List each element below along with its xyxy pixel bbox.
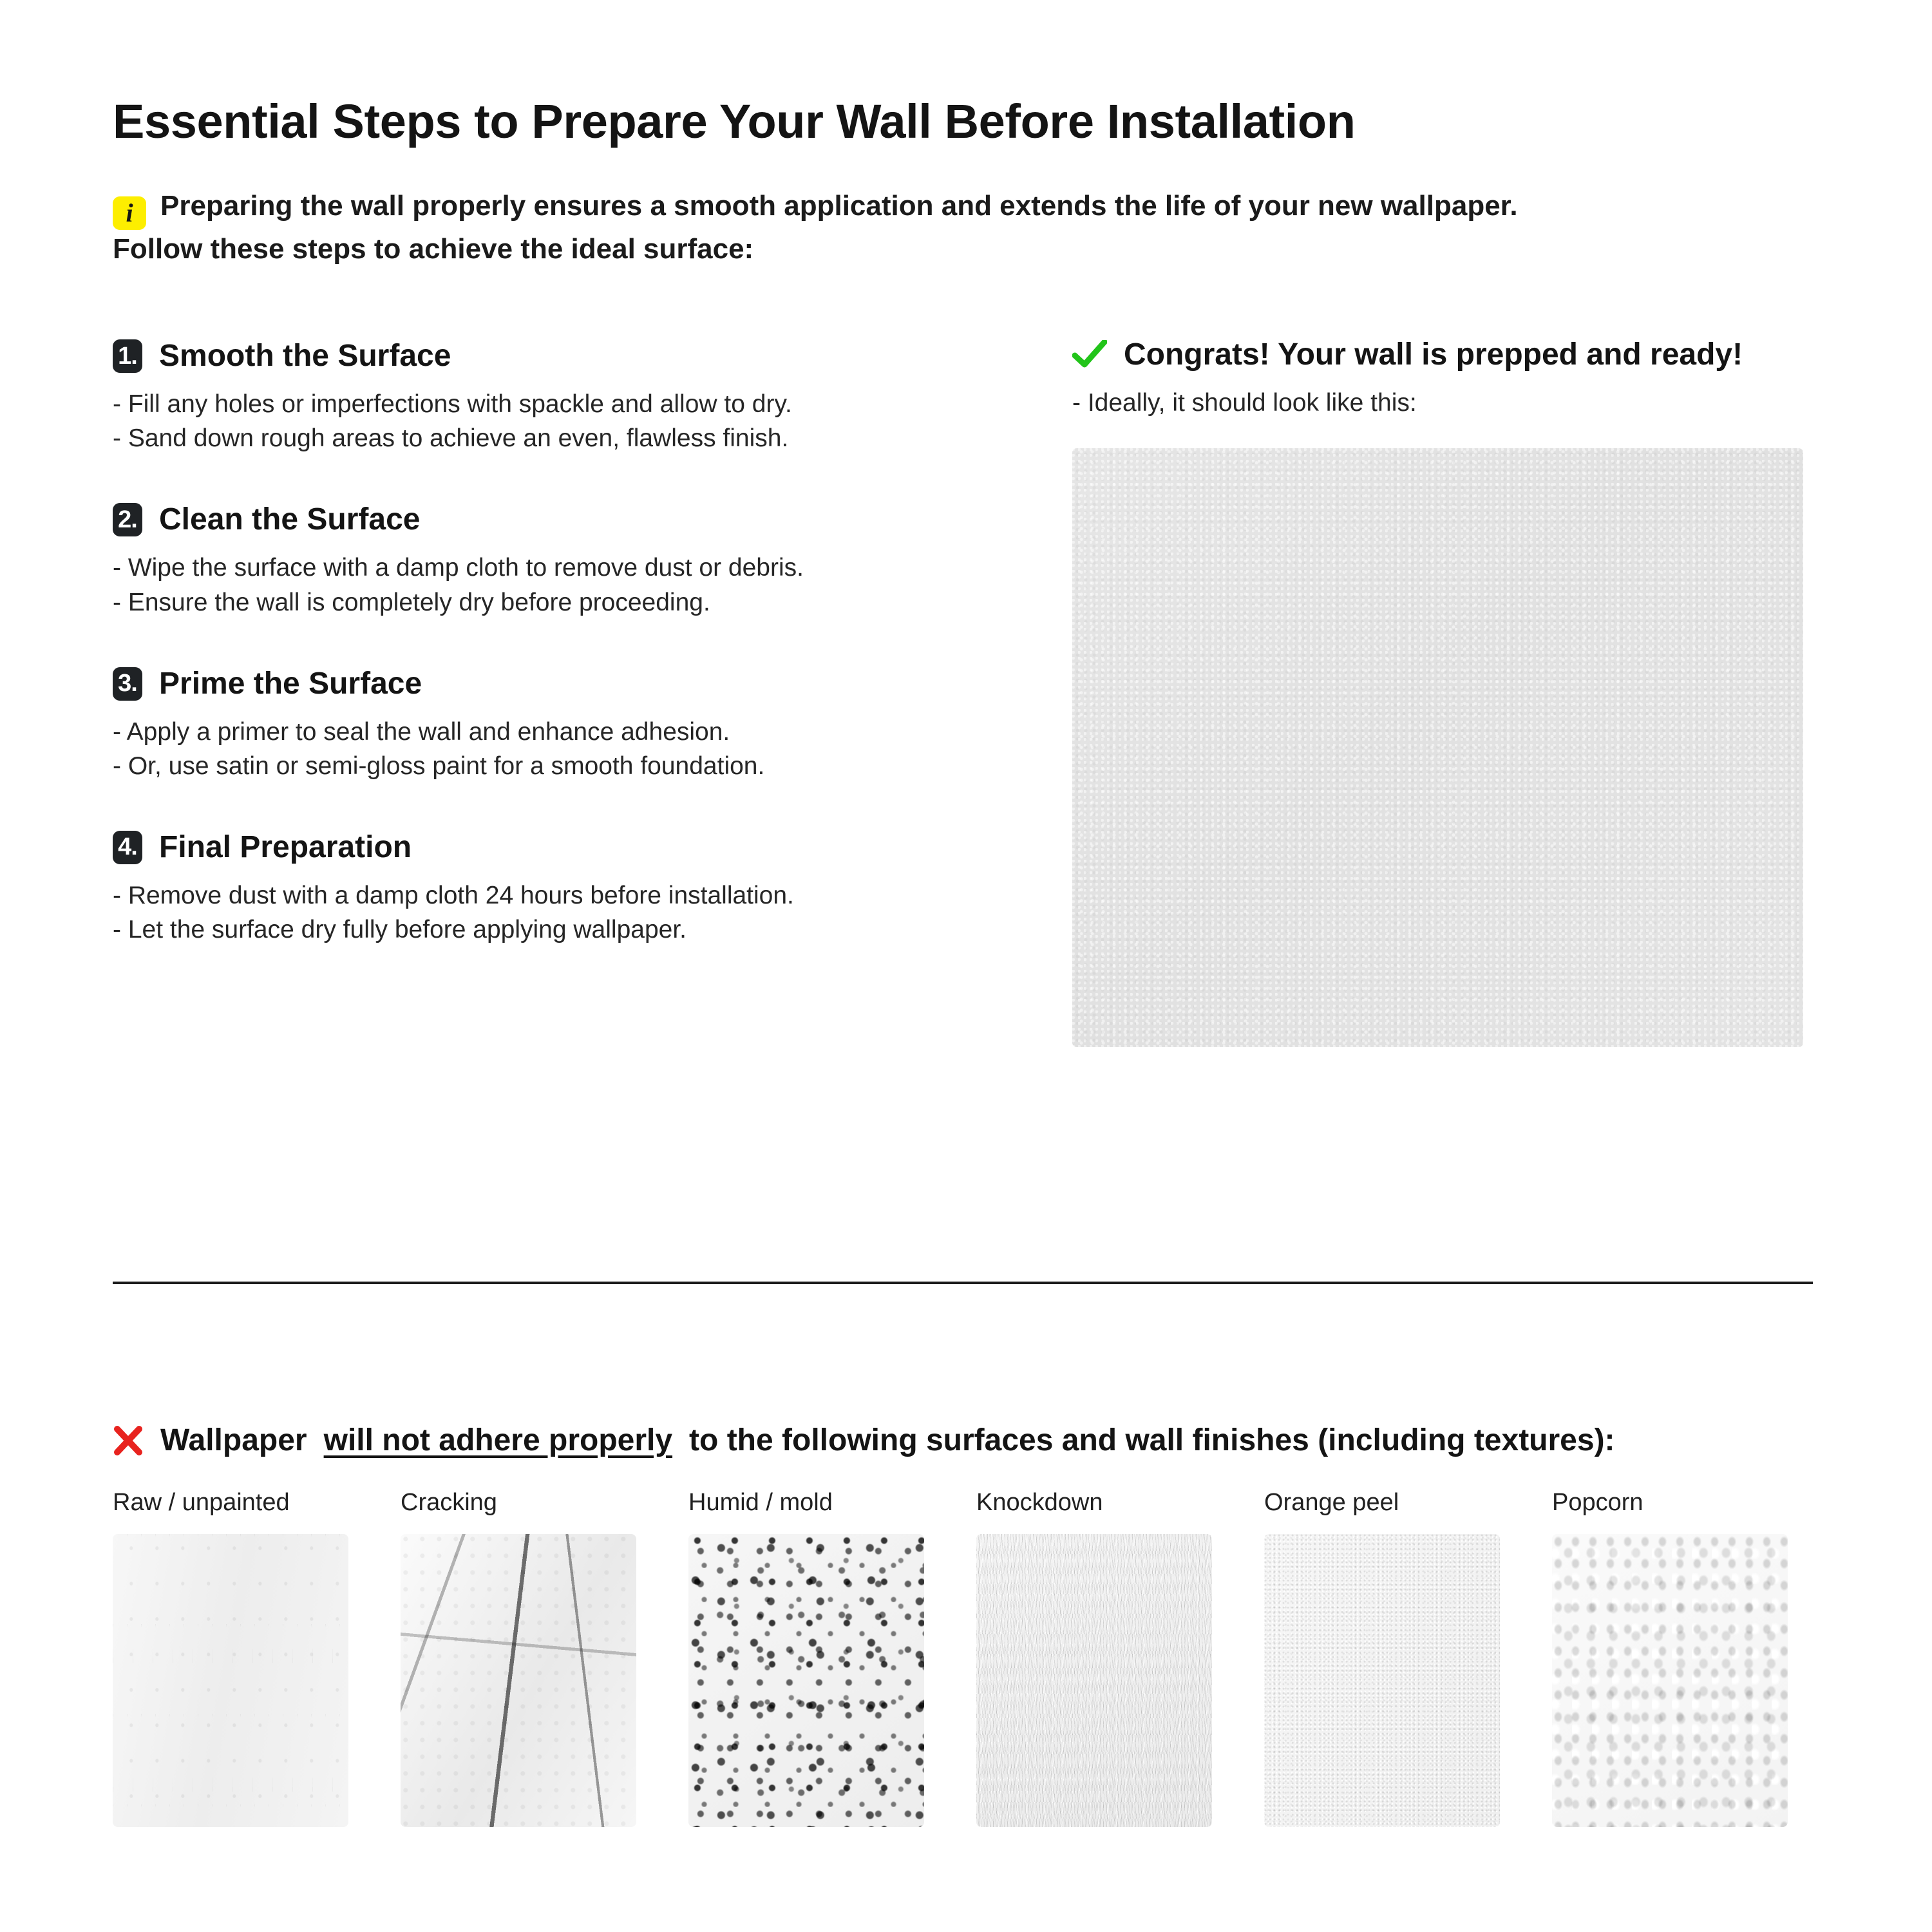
surface-label: Cracking: [401, 1490, 674, 1515]
section-divider: [113, 1282, 1813, 1284]
warning-text-before: Wallpaper: [160, 1425, 307, 1457]
step-line: - Or, use satin or semi-gloss paint for …: [113, 749, 969, 783]
surface-label: Humid / mold: [688, 1490, 962, 1515]
surface-item-cracking: Cracking: [401, 1490, 674, 1827]
step-3: 3. Prime the Surface - Apply a primer to…: [113, 667, 969, 783]
content-columns: 1. Smooth the Surface - Fill any holes o…: [113, 339, 1819, 1047]
step-line: - Sand down rough areas to achieve an ev…: [113, 421, 969, 455]
surface-thumbnail: [976, 1534, 1212, 1827]
step-title: Prime the Surface: [159, 668, 422, 699]
x-icon: [113, 1425, 144, 1456]
warning-text-emphasis: will not adhere properly: [324, 1425, 672, 1457]
surface-item-popcorn: Popcorn: [1552, 1490, 1826, 1827]
step-title: Final Preparation: [159, 832, 412, 863]
congrats-subtitle: - Ideally, it should look like this:: [1072, 386, 1932, 420]
surface-thumbnail: [688, 1534, 924, 1827]
check-icon: [1072, 340, 1107, 370]
surface-item-knockdown: Knockdown: [976, 1490, 1250, 1827]
step-title: Smooth the Surface: [159, 341, 451, 372]
surface-item-raw-unpainted: Raw / unpainted: [113, 1490, 386, 1827]
surface-thumbnail: [1264, 1534, 1500, 1827]
step-line: - Let the surface dry fully before apply…: [113, 913, 969, 947]
page-title: Essential Steps to Prepare Your Wall Bef…: [113, 0, 1819, 147]
surface-label: Popcorn: [1552, 1490, 1826, 1515]
step-number-badge: 3.: [113, 667, 142, 701]
prepped-wall-sample: [1072, 448, 1803, 1047]
congrats-title: Congrats! Your wall is prepped and ready…: [1124, 339, 1743, 370]
step-1-header: 1. Smooth the Surface: [113, 339, 969, 373]
step-1: 1. Smooth the Surface - Fill any holes o…: [113, 339, 969, 455]
step-line: - Fill any holes or imperfections with s…: [113, 387, 969, 421]
step-number-badge: 1.: [113, 339, 142, 373]
step-number-badge: 2.: [113, 503, 142, 536]
congrats-column: Congrats! Your wall is prepped and ready…: [1072, 339, 1932, 1047]
surface-label: Knockdown: [976, 1490, 1250, 1515]
congrats-header: Congrats! Your wall is prepped and ready…: [1072, 339, 1932, 370]
step-2: 2. Clean the Surface - Wipe the surface …: [113, 503, 969, 619]
step-title: Clean the Surface: [159, 504, 420, 535]
step-4-header: 4. Final Preparation: [113, 831, 969, 864]
step-2-header: 2. Clean the Surface: [113, 503, 969, 536]
intro-line-1: Preparing the wall properly ensures a sm…: [160, 190, 1518, 222]
step-line: - Ensure the wall is completely dry befo…: [113, 585, 969, 620]
surface-thumbnail: [1552, 1534, 1788, 1827]
warning-headline: Wallpaper will not adhere properly to th…: [113, 1425, 1839, 1457]
step-line: - Apply a primer to seal the wall and en…: [113, 715, 969, 749]
step-line: - Wipe the surface with a damp cloth to …: [113, 551, 969, 585]
info-icon: i: [113, 196, 146, 230]
step-line: - Remove dust with a damp cloth 24 hours…: [113, 878, 969, 913]
step-number-badge: 4.: [113, 831, 142, 864]
steps-column: 1. Smooth the Surface - Fill any holes o…: [113, 339, 969, 1047]
surface-thumbnail: [113, 1534, 348, 1827]
intro-line-2: Follow these steps to achieve the ideal …: [113, 233, 753, 265]
intro-paragraph: iPreparing the wall properly ensures a s…: [113, 187, 1819, 269]
step-4: 4. Final Preparation - Remove dust with …: [113, 831, 969, 947]
surface-thumbnail-row: Raw / unpainted Cracking Humid / mold Kn…: [113, 1490, 1839, 1827]
step-3-header: 3. Prime the Surface: [113, 667, 969, 701]
unsuitable-surfaces-section: Wallpaper will not adhere properly to th…: [113, 1425, 1839, 1827]
surface-label: Orange peel: [1264, 1490, 1538, 1515]
wall-prep-infographic: Essential Steps to Prepare Your Wall Bef…: [0, 0, 1932, 1932]
surface-label: Raw / unpainted: [113, 1490, 386, 1515]
warning-text-after: to the following surfaces and wall finis…: [689, 1425, 1615, 1457]
surface-item-orange-peel: Orange peel: [1264, 1490, 1538, 1827]
surface-thumbnail: [401, 1534, 636, 1827]
surface-item-humid-mold: Humid / mold: [688, 1490, 962, 1827]
